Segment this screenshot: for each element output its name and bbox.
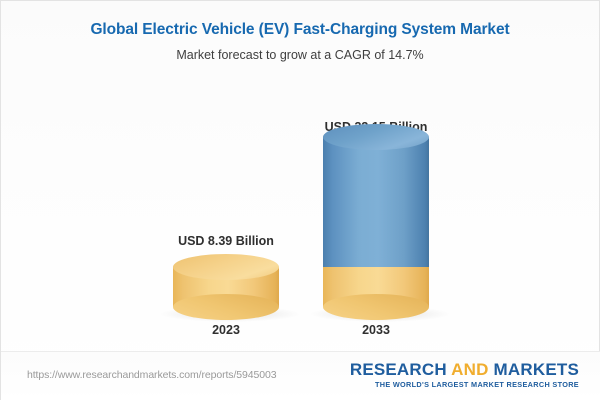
logo-word-research: RESEARCH xyxy=(350,360,447,379)
chart-subtitle: Market forecast to grow at a CAGR of 14.… xyxy=(1,46,599,64)
logo-tagline: THE WORLD'S LARGEST MARKET RESEARCH STOR… xyxy=(350,380,579,390)
research-and-markets-logo[interactable]: RESEARCH AND MARKETS THE WORLD'S LARGEST… xyxy=(350,360,579,390)
bar-segment-2033-yellow xyxy=(323,267,429,307)
data-label-2023: USD 8.39 Billion xyxy=(146,234,306,248)
category-label-2033: 2033 xyxy=(296,323,456,337)
footer: https://www.researchandmarkets.com/repor… xyxy=(1,351,600,400)
bar-cylinder-2033 xyxy=(323,137,429,307)
chart-header: Global Electric Vehicle (EV) Fast-Chargi… xyxy=(1,1,599,64)
chart-plot-area: USD 8.39 Billion 2023 USD 33.15 Billion xyxy=(1,89,600,339)
cylinder-top-cap-2033 xyxy=(323,124,429,150)
logo-word-markets: MARKETS xyxy=(494,360,579,379)
logo-wordmark: RESEARCH AND MARKETS xyxy=(350,360,579,379)
page-title: Global Electric Vehicle (EV) Fast-Chargi… xyxy=(1,20,599,40)
bar-segment-2033-blue xyxy=(323,137,429,267)
report-url[interactable]: https://www.researchandmarkets.com/repor… xyxy=(27,369,276,381)
bar-segment-2023-yellow xyxy=(173,267,279,307)
category-label-2023: 2023 xyxy=(146,323,306,337)
logo-word-and: AND xyxy=(451,360,488,379)
cylinder-bottom-cap-2023 xyxy=(173,294,279,320)
cylinder-bottom-cap-2033 xyxy=(323,294,429,320)
cylinder-top-cap-2023 xyxy=(173,254,279,280)
bar-cylinder-2023 xyxy=(173,267,279,307)
infographic-card: Global Electric Vehicle (EV) Fast-Chargi… xyxy=(0,0,600,400)
